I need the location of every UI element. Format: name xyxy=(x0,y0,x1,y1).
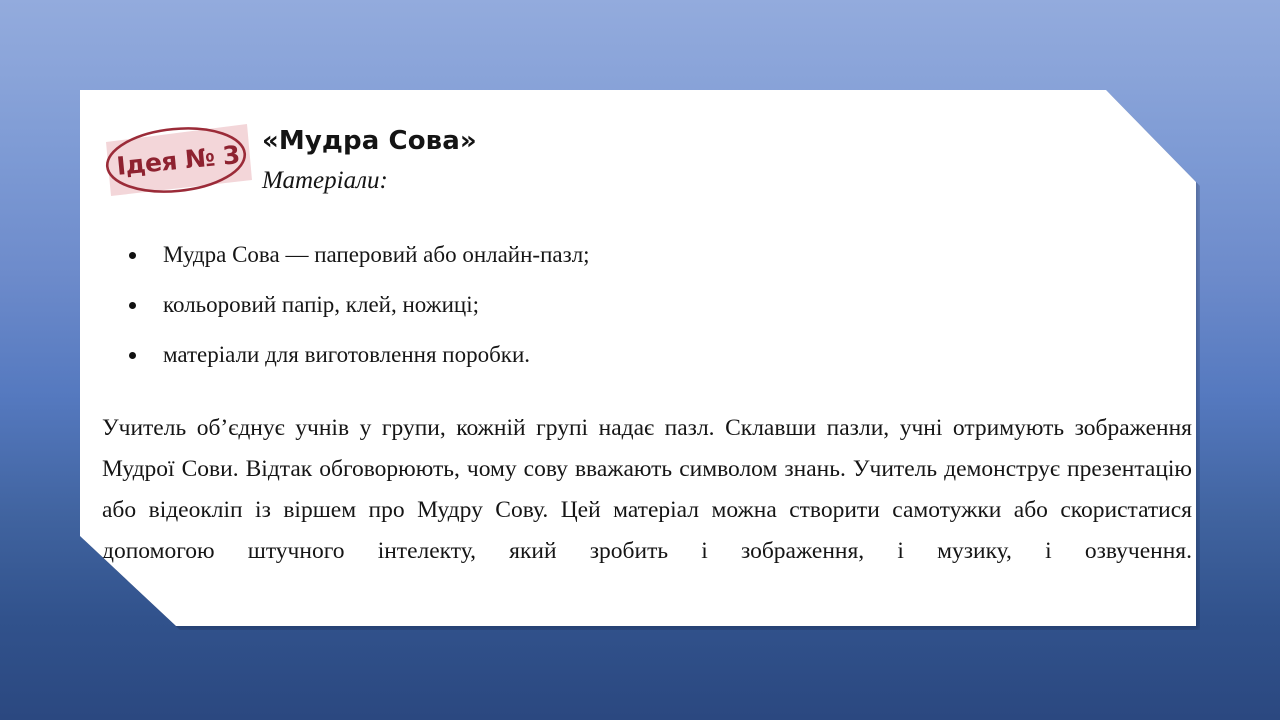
idea-badge: Ідея № 3 xyxy=(102,122,254,198)
list-item: матеріали для виготовлення поробки. xyxy=(80,330,1196,380)
body-paragraph: Учитель об’єднує учнів у групи, кожній г… xyxy=(102,408,1192,613)
materials-list: Мудра Сова — паперовий або онлайн-пазл; … xyxy=(80,230,1196,380)
idea-badge-stamp-icon xyxy=(102,122,254,198)
materials-subtitle: Матеріали: xyxy=(262,167,388,195)
list-item-label: кольоровий папір, клей, ножиці; xyxy=(163,292,479,317)
list-item: Мудра Сова — паперовий або онлайн-пазл; xyxy=(80,230,1196,280)
content-card: Ідея № 3 «Мудра Сова» Матеріали: Мудра С… xyxy=(80,90,1196,626)
page-title: «Мудра Сова» xyxy=(262,126,477,156)
card-header: Ідея № 3 «Мудра Сова» Матеріали: xyxy=(80,90,1196,220)
bullet-dot-icon xyxy=(129,302,136,309)
slide-canvas: Ідея № 3 «Мудра Сова» Матеріали: Мудра С… xyxy=(0,0,1280,720)
list-item-label: Мудра Сова — паперовий або онлайн-пазл; xyxy=(163,242,590,267)
bullet-dot-icon xyxy=(129,252,136,259)
list-item-label: матеріали для виготовлення поробки. xyxy=(163,342,530,367)
list-item: кольоровий папір, клей, ножиці; xyxy=(80,280,1196,330)
bullet-dot-icon xyxy=(129,352,136,359)
